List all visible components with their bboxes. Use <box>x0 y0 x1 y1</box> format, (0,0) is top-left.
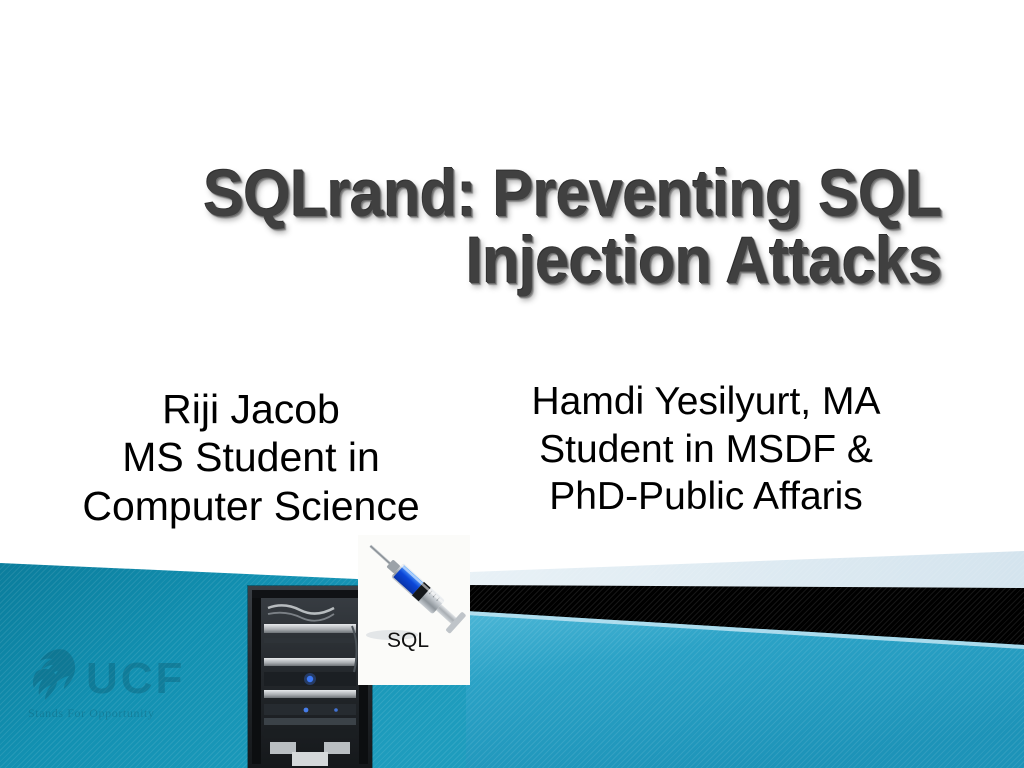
black-band <box>468 585 1024 646</box>
title-line-1: SQLrand: Preventing SQL <box>186 160 942 227</box>
slide-title: SQLrand: Preventing SQL Injection Attack… <box>120 160 942 295</box>
author-right-name: Hamdi Yesilyurt, MA <box>480 378 932 426</box>
teal-band-right <box>466 611 1024 768</box>
pegasus-icon <box>24 646 84 704</box>
presentation-slide: SQLrand: Preventing SQL Injection Attack… <box>0 0 1024 768</box>
author-left-name: Riji Jacob <box>18 385 484 433</box>
author-block-left: Riji Jacob MS Student in Computer Scienc… <box>18 385 484 530</box>
server-rack-photo <box>248 586 372 768</box>
ucf-logo-text: UCF <box>86 654 185 704</box>
sql-card-label: SQL <box>358 629 458 653</box>
author-left-role-line-1: MS Student in <box>18 433 484 481</box>
ucf-logo: UCF Stands For Opportunity <box>24 646 234 742</box>
ucf-logo-tagline: Stands For Opportunity <box>28 706 155 721</box>
title-line-2: Injection Attacks <box>186 227 942 294</box>
teal-highlight-edge <box>466 611 1024 649</box>
author-right-role-line-1: Student in MSDF & <box>480 426 932 474</box>
author-block-right: Hamdi Yesilyurt, MA Student in MSDF & Ph… <box>480 378 932 521</box>
pale-blue-band <box>470 551 1024 600</box>
syringe-icon <box>358 535 470 685</box>
sql-injection-image: SQL <box>358 535 470 685</box>
author-right-role-line-2: PhD-Public Affaris <box>480 473 932 521</box>
author-left-role-line-2: Computer Science <box>18 482 484 530</box>
